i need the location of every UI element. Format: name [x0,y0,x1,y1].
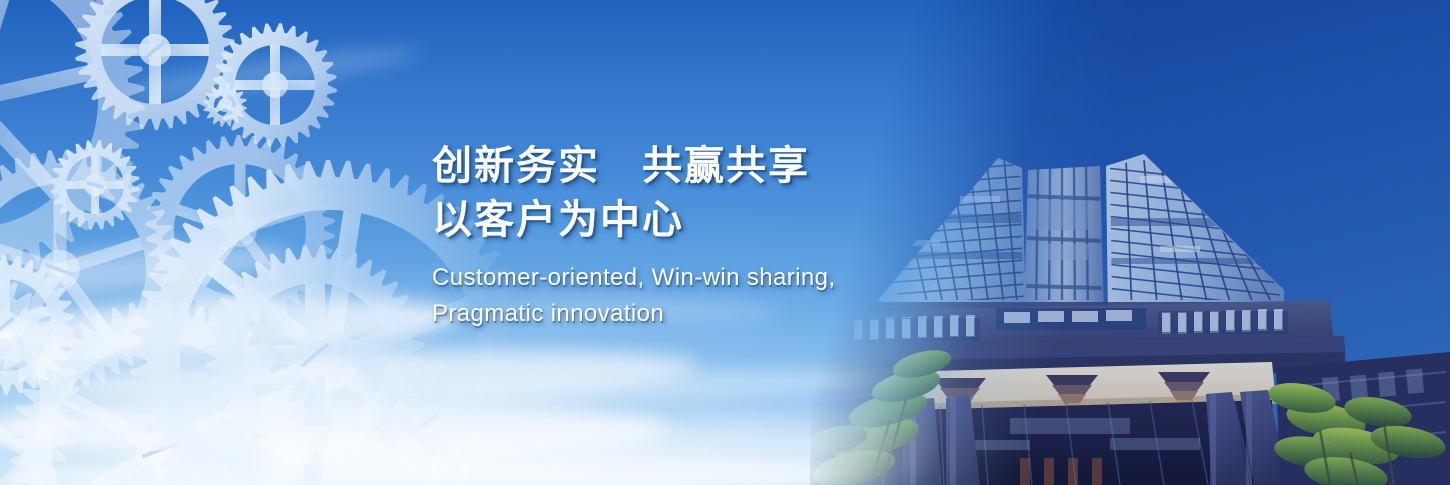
hero-banner: 创新务实 共赢共享 以客户为中心 Customer-oriented, Win-… [0,0,1450,485]
subtitle-english-line2: Pragmatic innovation [432,296,992,332]
subtitle-english-line1: Customer-oriented, Win-win sharing, [432,260,992,296]
headline-chinese-line1: 创新务实 共赢共享 [432,140,992,192]
gear-icon [213,23,337,147]
gear-icon [0,0,145,275]
headline-chinese-line2: 以客户为中心 [432,194,992,246]
banner-copy: 创新务实 共赢共享 以客户为中心 Customer-oriented, Win-… [432,140,992,332]
